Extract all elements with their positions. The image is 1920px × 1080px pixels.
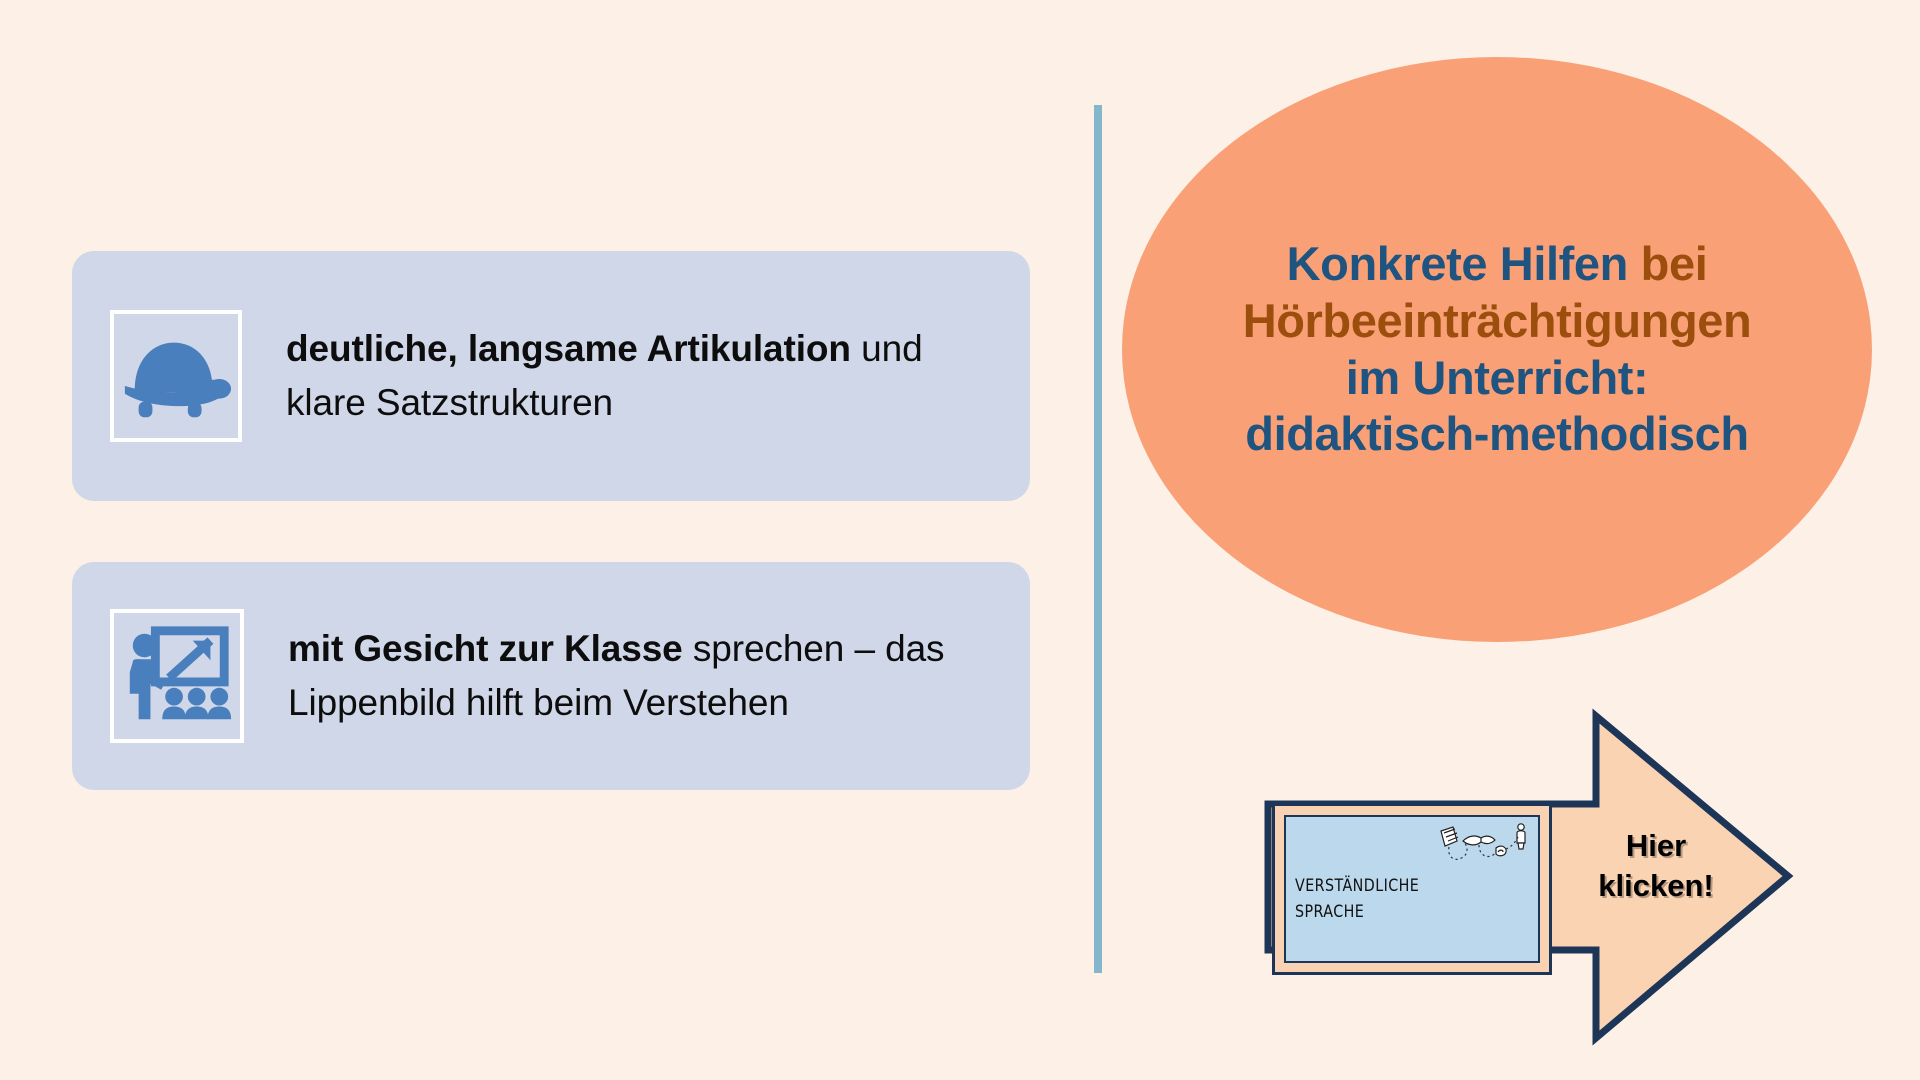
tip-card-text-bold: mit Gesicht zur Klasse (288, 628, 683, 669)
cta-label-line1: Hier (1626, 828, 1686, 863)
tip-card-text: mit Gesicht zur Klasse sprechen – das Li… (288, 622, 1004, 730)
turtle-icon-frame (110, 310, 242, 442)
teacher-classroom-icon (118, 617, 236, 735)
title-ellipse: Konkrete Hilfen bei Hörbeeinträchtigunge… (1122, 57, 1872, 642)
turtle-icon (117, 317, 235, 435)
vertical-divider (1094, 105, 1102, 973)
page-title: Konkrete Hilfen bei Hörbeeinträchtigunge… (1221, 236, 1774, 463)
title-part-bei: bei (1641, 237, 1708, 290)
thumbnail-inner: VERSTÄNDLICHE SPRACHE (1284, 815, 1540, 963)
slide-canvas: deutliche, langsame Artikulation und kla… (0, 0, 1920, 1080)
teacher-classroom-icon-frame (110, 609, 244, 743)
thumbnail-title: VERSTÄNDLICHE SPRACHE (1295, 873, 1419, 926)
title-part-didaktisch-methodisch: didaktisch-methodisch (1245, 407, 1748, 460)
title-part-konkrete-hilfen: Konkrete Hilfen (1287, 237, 1628, 290)
title-part-hoerbeeintraechtigungen: Hörbeeinträchtigungen (1243, 294, 1752, 347)
tip-card-text-bold: deutliche, langsame Artikulation (286, 328, 851, 369)
thumbnail-verstaendliche-sprache[interactable]: VERSTÄNDLICHE SPRACHE (1272, 803, 1552, 975)
tip-card-text: deutliche, langsame Artikulation und kla… (286, 322, 1004, 430)
cta-label-line2: klicken! (1598, 868, 1713, 903)
books-and-person-doodle-icon (1433, 821, 1533, 883)
title-part-im-unterricht: im Unterricht: (1346, 351, 1649, 404)
tip-card-face-the-class: mit Gesicht zur Klasse sprechen – das Li… (72, 562, 1030, 790)
tip-card-articulation: deutliche, langsame Artikulation und kla… (72, 251, 1030, 501)
cta-label[interactable]: Hier klicken! (1576, 826, 1736, 907)
